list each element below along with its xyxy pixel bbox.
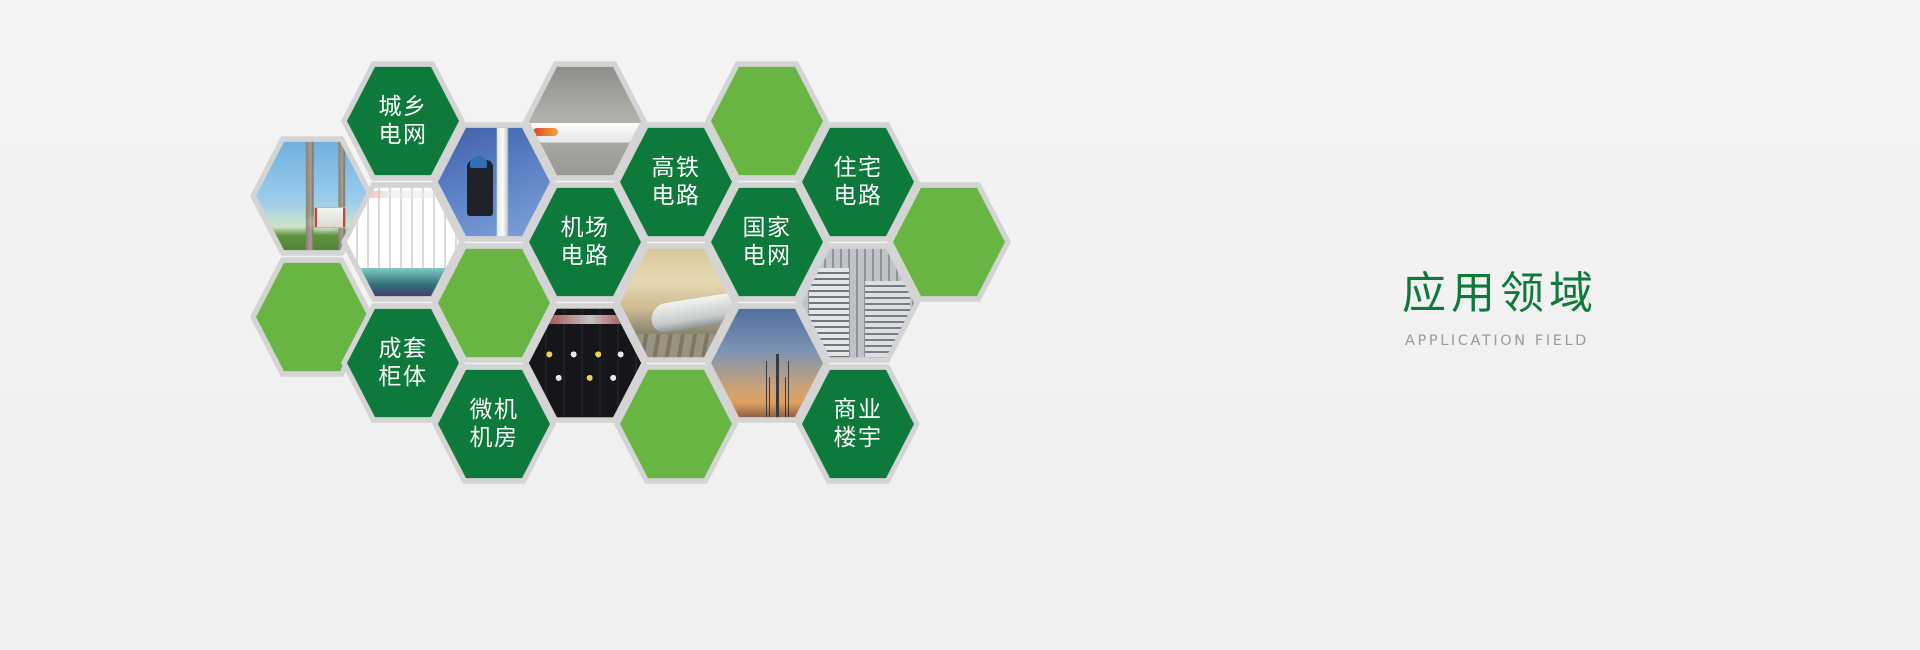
hex-inner: 成套 柜体 xyxy=(347,308,459,418)
hex-inner: 机场 电路 xyxy=(529,187,641,297)
hex-inner xyxy=(802,248,914,358)
hex-inner: 城乡 电网 xyxy=(347,66,459,176)
hex-label-state-grid: 国家 电网 xyxy=(743,214,792,270)
switchgear-cabinets-photo xyxy=(347,187,459,297)
high-speed-train-photo xyxy=(620,248,732,358)
hex-inner xyxy=(711,308,823,418)
hex-label-airport-circuit: 机场 电路 xyxy=(561,214,610,270)
hex-label-commercial-building: 商业 楼宇 xyxy=(834,396,883,452)
airport-apron-photo xyxy=(529,66,641,176)
hex-label-residential-circuit: 住宅 电路 xyxy=(834,154,883,210)
relay-control-panel-photo xyxy=(529,308,641,418)
transmission-pylon-photo xyxy=(711,308,823,418)
hex-inner xyxy=(347,187,459,297)
page-title-en: APPLICATION FIELD xyxy=(1405,333,1598,349)
title-block: 应用领域 APPLICATION FIELD xyxy=(1402,272,1598,349)
hex-inner xyxy=(529,66,641,176)
hex-inner: 国家 电网 xyxy=(711,187,823,297)
hex-inner: 微机 机房 xyxy=(438,369,550,479)
hex-inner xyxy=(620,369,732,479)
hex-inner xyxy=(711,66,823,176)
residential-towers-photo xyxy=(802,248,914,358)
hex-inner xyxy=(529,308,641,418)
page-title-cn: 应用领域 xyxy=(1402,272,1598,316)
hex-inner xyxy=(620,248,732,358)
hex-inner xyxy=(438,248,550,358)
hexagon-grid: 城乡 电网 成套 柜体 微机 机房 xyxy=(0,0,1180,650)
application-field-banner: 城乡 电网 成套 柜体 微机 机房 xyxy=(0,0,1920,650)
hex-inner: 高铁 电路 xyxy=(620,127,732,237)
hex-inner xyxy=(893,187,1005,297)
hex-inner: 住宅 电路 xyxy=(802,127,914,237)
hex-label-urban-rural-grid: 城乡 电网 xyxy=(379,93,428,149)
hex-inner: 商业 楼宇 xyxy=(802,369,914,479)
hex-inner xyxy=(438,127,550,237)
lineman-on-pole-photo xyxy=(438,127,550,237)
hex-label-complete-cabinet: 成套 柜体 xyxy=(379,335,428,391)
hex-label-computer-room: 微机 机房 xyxy=(470,396,519,452)
hex-label-hsr-circuit: 高铁 电路 xyxy=(652,154,701,210)
